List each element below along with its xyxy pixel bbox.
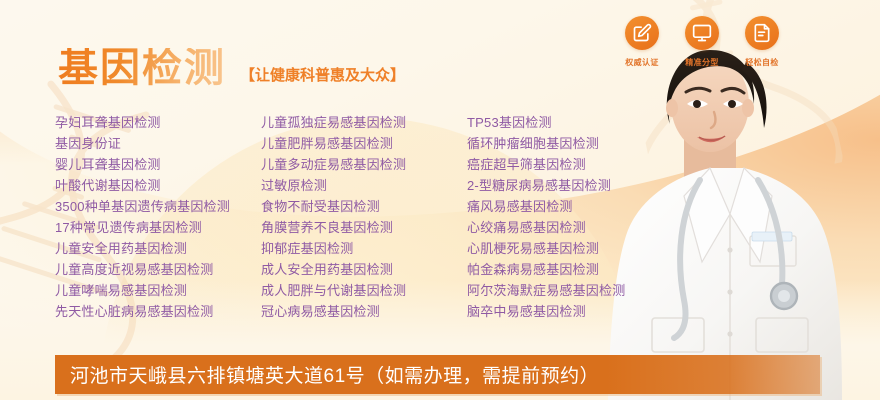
monitor-icon — [685, 16, 719, 50]
badge-label: 权威认证 — [618, 57, 666, 68]
list-item[interactable]: 叶酸代谢基因检测 — [55, 175, 261, 196]
list-item[interactable]: 食物不耐受基因检测 — [261, 196, 467, 217]
badge-precise-typing[interactable]: 精准分型 — [678, 16, 726, 68]
list-item[interactable]: 儿童肥胖易感基因检测 — [261, 133, 467, 154]
feature-badges: 权威认证 精准分型 轻松自检 — [618, 16, 786, 68]
list-item[interactable]: 17种常见遗传病基因检测 — [55, 217, 261, 238]
address-text: 河池市天峨县六排镇塘英大道61号（如需办理，需提前预约） — [55, 361, 599, 388]
headline-group: 基因检测 【让健康科普惠及大众】 — [58, 48, 405, 88]
test-list-column-3: TP53基因检测 循环肿瘤细胞基因检测 癌症超早筛基因检测 2-型糖尿病易感基因… — [467, 112, 675, 322]
list-item[interactable]: 心绞痛易感基因检测 — [467, 217, 675, 238]
list-item[interactable]: 心肌梗死易感基因检测 — [467, 238, 675, 259]
edit-square-icon — [625, 16, 659, 50]
test-list-column-2: 儿童孤独症易感基因检测 儿童肥胖易感基因检测 儿童多动症易感基因检测 过敏原检测… — [261, 112, 467, 322]
list-item[interactable]: 角膜营养不良基因检测 — [261, 217, 467, 238]
list-item[interactable]: 儿童多动症易感基因检测 — [261, 154, 467, 175]
page-subtitle: 【让健康科普惠及大众】 — [240, 64, 405, 88]
badge-label: 轻松自检 — [738, 57, 786, 68]
list-item[interactable]: 脑卒中易感基因检测 — [467, 301, 675, 322]
list-item[interactable]: 循环肿瘤细胞基因检测 — [467, 133, 675, 154]
badge-authoritative-certification[interactable]: 权威认证 — [618, 16, 666, 68]
list-item[interactable]: 婴儿耳聋基因检测 — [55, 154, 261, 175]
list-item[interactable]: 3500种单基因遗传病基因检测 — [55, 196, 261, 217]
list-item[interactable]: 孕妇耳聋基因检测 — [55, 112, 261, 133]
document-icon — [745, 16, 779, 50]
list-item[interactable]: 成人肥胖与代谢基因检测 — [261, 280, 467, 301]
list-item[interactable]: 先天性心脏病易感基因检测 — [55, 301, 261, 322]
page-title: 基因检测 — [58, 48, 226, 88]
list-item[interactable]: 儿童安全用药基因检测 — [55, 238, 261, 259]
list-item[interactable]: 成人安全用药基因检测 — [261, 259, 467, 280]
address-bar: 河池市天峨县六排镇塘英大道61号（如需办理，需提前预约） — [55, 355, 820, 394]
list-item[interactable]: 基因身份证 — [55, 133, 261, 154]
test-list-column-1: 孕妇耳聋基因检测 基因身份证 婴儿耳聋基因检测 叶酸代谢基因检测 3500种单基… — [55, 112, 261, 322]
list-item[interactable]: 儿童高度近视易感基因检测 — [55, 259, 261, 280]
list-item[interactable]: 帕金森病易感基因检测 — [467, 259, 675, 280]
list-item[interactable]: 儿童孤独症易感基因检测 — [261, 112, 467, 133]
list-item[interactable]: 抑郁症基因检测 — [261, 238, 467, 259]
list-item[interactable]: 2-型糖尿病易感基因检测 — [467, 175, 675, 196]
genetic-testing-banner: 基因检测 【让健康科普惠及大众】 权威认证 精准分型 — [0, 0, 880, 400]
list-item[interactable]: 过敏原检测 — [261, 175, 467, 196]
list-item[interactable]: 癌症超早筛基因检测 — [467, 154, 675, 175]
list-item[interactable]: 痛风易感基因检测 — [467, 196, 675, 217]
test-item-list: 孕妇耳聋基因检测 基因身份证 婴儿耳聋基因检测 叶酸代谢基因检测 3500种单基… — [55, 112, 675, 322]
list-item[interactable]: TP53基因检测 — [467, 112, 675, 133]
list-item[interactable]: 阿尔茨海默症易感基因检测 — [467, 280, 675, 301]
badge-label: 精准分型 — [678, 57, 726, 68]
list-item[interactable]: 儿童哮喘易感基因检测 — [55, 280, 261, 301]
list-item[interactable]: 冠心病易感基因检测 — [261, 301, 467, 322]
badge-easy-self-check[interactable]: 轻松自检 — [738, 16, 786, 68]
